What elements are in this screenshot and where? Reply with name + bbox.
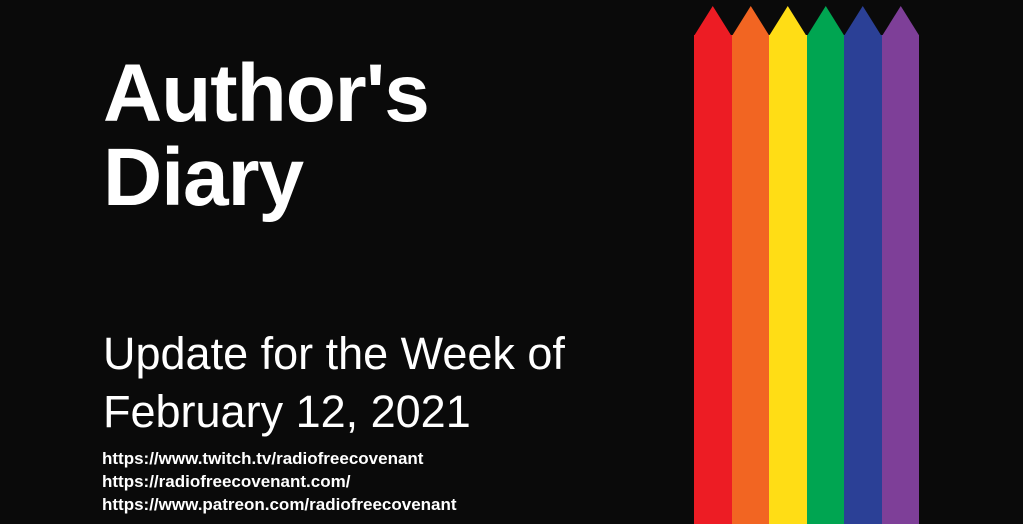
pencil-tip-icon (882, 6, 920, 36)
pencil-body (732, 35, 770, 524)
green-pencil (807, 0, 845, 524)
title-line-1: Author's (103, 52, 663, 136)
pencil-tip-icon (769, 6, 807, 36)
orange-pencil (732, 0, 770, 524)
author-diary-title-slide: Author's Diary Update for the Week of Fe… (0, 0, 1023, 524)
purple-pencil (882, 0, 920, 524)
yellow-pencil (769, 0, 807, 524)
page-title: Author's Diary (103, 52, 663, 220)
twitch-link[interactable]: https://www.twitch.tv/radiofreecovenant (102, 447, 702, 470)
rainbow-pencils-graphic (694, 0, 919, 524)
pencil-body (694, 35, 732, 524)
website-link[interactable]: https://radiofreecovenant.com/ (102, 470, 702, 493)
pencil-tip-icon (694, 6, 732, 36)
red-pencil (694, 0, 732, 524)
pencil-body (882, 35, 920, 524)
title-line-2: Diary (103, 136, 663, 220)
pencil-body (769, 35, 807, 524)
blue-pencil (844, 0, 882, 524)
subtitle-line-1: Update for the Week of (103, 325, 703, 383)
subtitle-line-2: February 12, 2021 (103, 383, 703, 441)
page-subtitle: Update for the Week of February 12, 2021 (103, 325, 703, 441)
pencil-tip-icon (844, 6, 882, 36)
link-list: https://www.twitch.tv/radiofreecovenant … (102, 447, 702, 516)
pencil-tip-icon (807, 6, 845, 36)
pencil-body (807, 35, 845, 524)
patreon-link[interactable]: https://www.patreon.com/radiofreecovenan… (102, 493, 702, 516)
pencil-tip-icon (732, 6, 770, 36)
pencil-body (844, 35, 882, 524)
